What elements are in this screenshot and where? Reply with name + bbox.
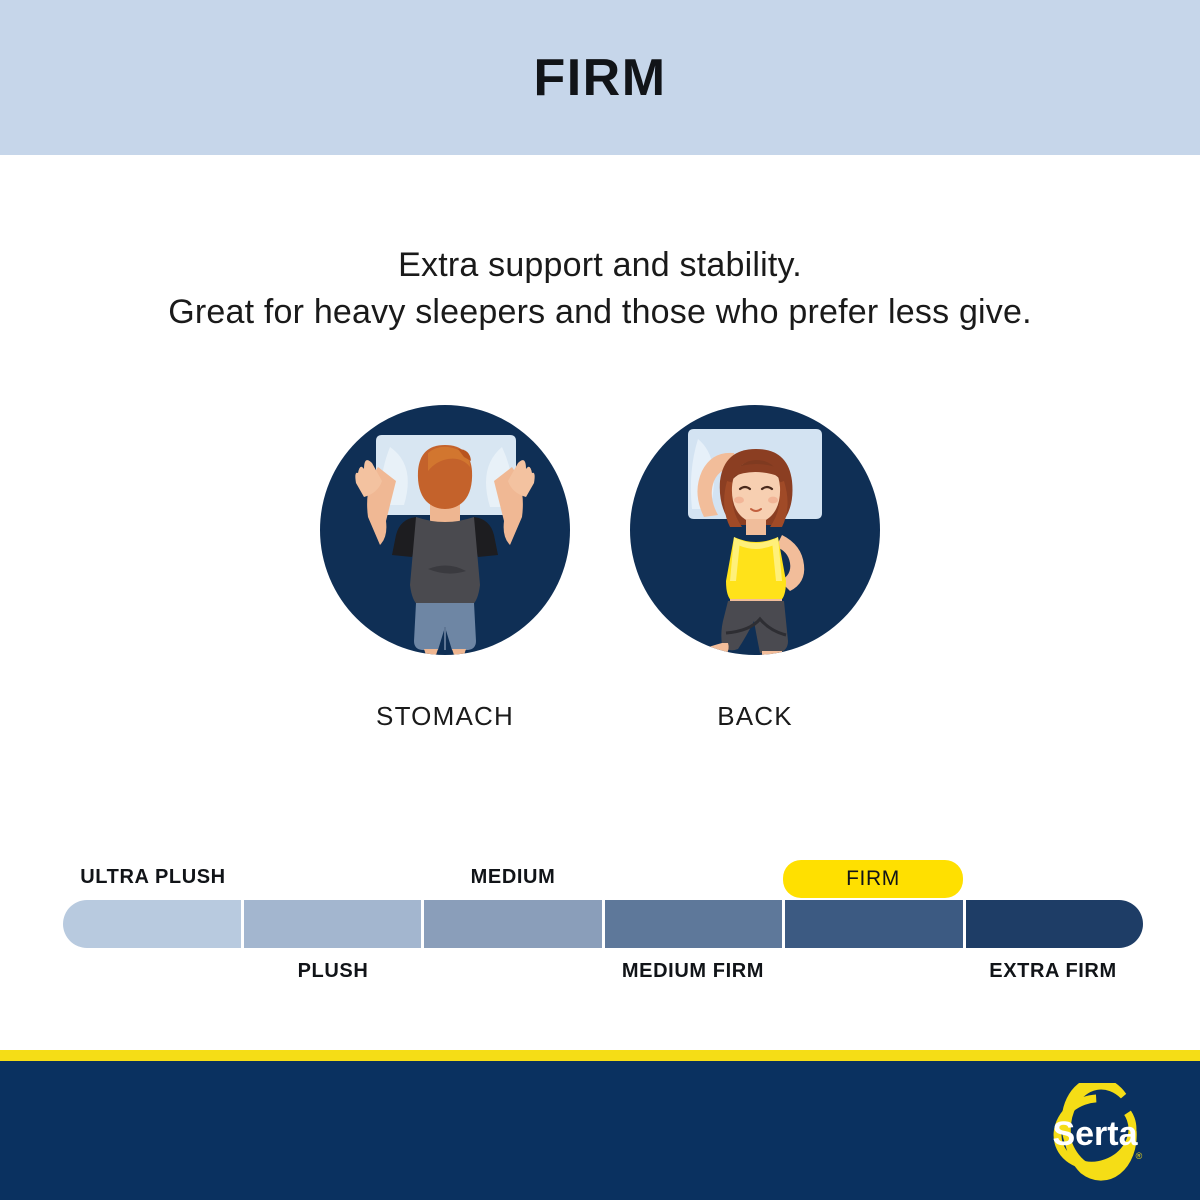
firmness-segment-extra-firm[interactable] [966, 900, 1144, 948]
scale-label-firm-selected[interactable]: FIRM [783, 860, 963, 898]
footer-accent-stripe [0, 1050, 1200, 1061]
firmness-infographic: FIRM Extra support and stability. Great … [0, 0, 1200, 1200]
header-banner: FIRM [0, 0, 1200, 155]
subtitle-line-1: Extra support and stability. [0, 242, 1200, 289]
firmness-segment-plush[interactable] [244, 900, 425, 948]
subtitle-line-2: Great for heavy sleepers and those who p… [0, 289, 1200, 336]
page-title: FIRM [533, 48, 666, 108]
serta-logo-text: Serta [1052, 1115, 1138, 1153]
scale-label-medium: MEDIUM [393, 866, 633, 889]
stomach-sleeper-illustration [320, 405, 570, 655]
subtitle: Extra support and stability. Great for h… [0, 242, 1200, 336]
position-label-stomach: STOMACH [376, 701, 514, 732]
firmness-bar [63, 900, 1143, 948]
scale-label-medium-firm: MEDIUM FIRM [573, 960, 813, 983]
firmness-scale: ULTRA PLUSH MEDIUM FIRM PLUSH MEDIUM FIR… [63, 866, 1143, 1000]
sleep-positions: STOMACH [0, 405, 1200, 732]
back-sleeper-illustration [630, 405, 880, 655]
position-stomach: STOMACH [310, 405, 580, 732]
scale-labels-top: ULTRA PLUSH MEDIUM FIRM [63, 866, 1143, 900]
firmness-segment-ultra-plush[interactable] [63, 900, 244, 948]
scale-label-plush: PLUSH [213, 960, 453, 983]
position-back: BACK [620, 405, 890, 732]
firmness-segment-firm[interactable] [785, 900, 966, 948]
firmness-segment-medium-firm[interactable] [605, 900, 786, 948]
firmness-segment-medium[interactable] [424, 900, 605, 948]
svg-text:®: ® [1136, 1151, 1143, 1161]
scale-labels-bottom: PLUSH MEDIUM FIRM EXTRA FIRM [63, 960, 1143, 1000]
serta-logo[interactable]: Serta ® [1035, 1083, 1155, 1181]
footer-bar: Serta ® [0, 1061, 1200, 1200]
scale-label-extra-firm: EXTRA FIRM [933, 960, 1173, 983]
scale-label-ultra-plush: ULTRA PLUSH [33, 866, 273, 889]
position-label-back: BACK [717, 701, 793, 732]
